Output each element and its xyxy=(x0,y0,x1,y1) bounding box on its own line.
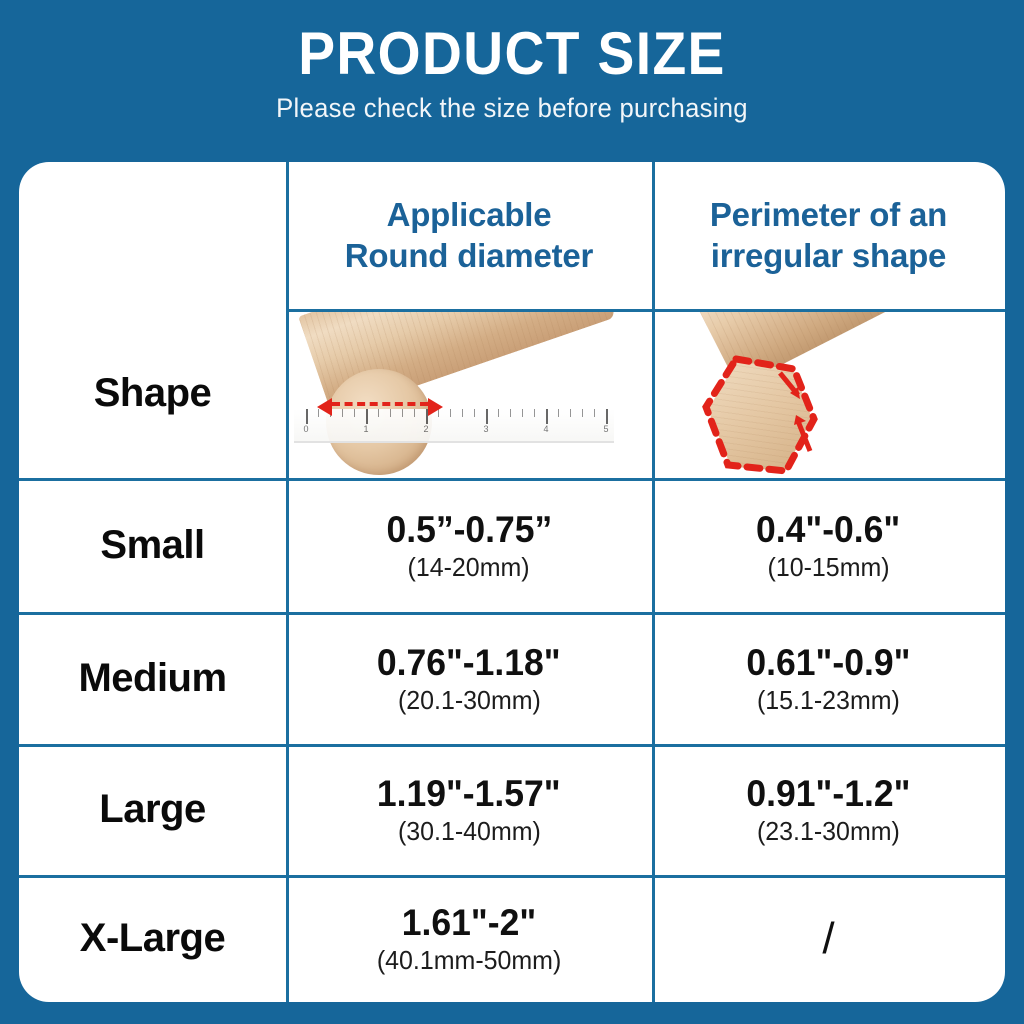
cell-small-irregular: 0.4"-0.6" (10-15mm) xyxy=(652,478,1005,612)
row-label-small-text: Small xyxy=(100,523,204,568)
column-header-round-diameter-line2: Round diameter xyxy=(345,236,593,276)
ruler-baseline xyxy=(294,441,614,443)
row-label-medium-text: Medium xyxy=(78,656,226,701)
row-label-large: Large xyxy=(19,744,286,875)
page-title: PRODUCT SIZE xyxy=(41,0,983,85)
row-divider-1 xyxy=(19,478,1005,481)
ruler-tick-5: 5 xyxy=(603,424,608,434)
diameter-arrow-icon xyxy=(332,402,428,410)
cell-small-round-inches: 0.5”-0.75” xyxy=(386,511,552,548)
cell-large-round-mm: (30.1-40mm) xyxy=(398,818,541,844)
cell-medium-round: 0.76"-1.18" (20.1-30mm) xyxy=(286,612,652,744)
column-header-round-diameter-line1: Applicable xyxy=(387,195,552,235)
column-header-round-diameter: Applicable Round diameter xyxy=(286,162,652,309)
arrow-head-right-icon xyxy=(428,398,443,416)
size-table-card: Applicable Round diameter Perimeter of a… xyxy=(19,162,1005,1002)
hexagonal-bar-icon xyxy=(652,309,1005,478)
cell-large-round: 1.19"-1.57" (30.1-40mm) xyxy=(286,744,652,875)
cell-medium-irregular-inches: 0.61"-0.9" xyxy=(746,644,910,681)
row-label-medium: Medium xyxy=(19,612,286,744)
cell-large-round-inches: 1.19"-1.57" xyxy=(377,775,561,812)
cell-small-round: 0.5”-0.75” (14-20mm) xyxy=(286,478,652,612)
cell-xlarge-irregular: / xyxy=(652,875,1005,1002)
ruler-tick-0: 0 xyxy=(303,424,308,434)
table-corner-blank xyxy=(19,162,286,309)
cell-xlarge-round-inches: 1.61"-2" xyxy=(402,904,536,941)
column-header-irregular-perimeter-line2: irregular shape xyxy=(711,236,946,276)
cell-large-irregular: 0.91"-1.2" (23.1-30mm) xyxy=(652,744,1005,875)
row-divider-header xyxy=(286,309,1005,312)
row-label-xlarge: X-Large xyxy=(19,875,286,1002)
row-divider-4 xyxy=(19,875,1005,878)
row-label-shape-text: Shape xyxy=(94,371,212,416)
cell-large-irregular-inches: 0.91"-1.2" xyxy=(746,775,910,812)
cell-xlarge-irregular-value: / xyxy=(822,914,834,964)
arrow-head-left-icon xyxy=(317,398,332,416)
cell-xlarge-round: 1.61"-2" (40.1mm-50mm) xyxy=(286,875,652,1002)
cell-medium-round-mm: (20.1-30mm) xyxy=(398,687,541,713)
column-header-irregular-perimeter-line1: Perimeter of an xyxy=(710,195,947,235)
ruler-tick-2: 2 xyxy=(423,424,428,434)
row-divider-3 xyxy=(19,744,1005,747)
cell-large-irregular-mm: (23.1-30mm) xyxy=(757,818,900,844)
cell-medium-irregular-mm: (15.1-23mm) xyxy=(757,687,900,713)
shape-cell-round: 0 1 2 3 4 5 xyxy=(286,309,652,478)
cell-medium-round-inches: 0.76"-1.18" xyxy=(377,644,561,681)
round-dowel-icon: 0 1 2 3 4 5 xyxy=(286,309,652,478)
product-size-poster: PRODUCT SIZE Please check the size befor… xyxy=(0,0,1024,1024)
ruler-tick-1: 1 xyxy=(363,424,368,434)
row-label-small: Small xyxy=(19,478,286,612)
cell-small-irregular-mm: (10-15mm) xyxy=(767,554,889,580)
ruler-icon: 0 1 2 3 4 5 xyxy=(294,409,614,443)
cell-medium-irregular: 0.61"-0.9" (15.1-23mm) xyxy=(652,612,1005,744)
row-label-xlarge-text: X-Large xyxy=(80,916,225,961)
row-label-shape: Shape xyxy=(19,309,286,478)
column-header-irregular-perimeter: Perimeter of an irregular shape xyxy=(652,162,1005,309)
shape-cell-irregular xyxy=(652,309,1005,478)
cell-xlarge-round-mm: (40.1mm-50mm) xyxy=(377,947,561,973)
cell-small-irregular-inches: 0.4"-0.6" xyxy=(756,511,900,548)
row-divider-2 xyxy=(19,612,1005,615)
perimeter-dashed-outline-icon xyxy=(702,355,820,477)
ruler-tick-4: 4 xyxy=(543,424,548,434)
poster-header: PRODUCT SIZE Please check the size befor… xyxy=(0,0,1024,162)
row-label-large-text: Large xyxy=(99,787,205,832)
cell-small-round-mm: (14-20mm) xyxy=(408,554,530,580)
ruler-tick-3: 3 xyxy=(483,424,488,434)
page-subtitle: Please check the size before purchasing xyxy=(26,85,999,124)
